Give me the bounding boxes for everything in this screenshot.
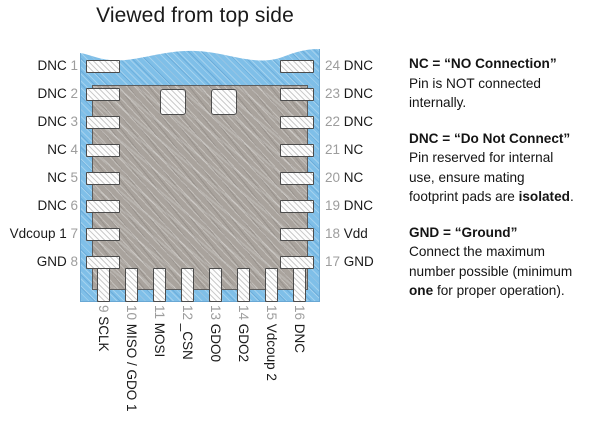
pin-name: MOSI xyxy=(152,323,167,358)
legend-emphasis: isolated xyxy=(519,189,570,204)
legend-block-gnd: GND = “Ground” Connect the maximum numbe… xyxy=(409,223,597,301)
pin-number: 10 xyxy=(124,305,139,320)
pin-label-1: DNC 1 xyxy=(0,59,78,73)
pin-pad-7[interactable] xyxy=(86,228,120,241)
pin-pad-18[interactable] xyxy=(280,228,314,241)
legend-line: Pin is NOT connected xyxy=(409,74,597,94)
package-die-body xyxy=(92,85,308,290)
pin-name: Vdcoup 1 xyxy=(10,226,67,241)
pin-number: 7 xyxy=(70,226,78,241)
pin-name: DNC xyxy=(37,198,66,213)
pin-pad-22[interactable] xyxy=(280,116,314,129)
legend-heading: DNC = “Do Not Connect” xyxy=(409,129,597,149)
pin-pad-5[interactable] xyxy=(86,172,120,185)
pin-name: GDO0 xyxy=(208,324,223,362)
pin-name: DNC xyxy=(344,198,373,213)
pin-label-14: 14 GDO2 xyxy=(236,305,250,362)
pin-label-5: NC 5 xyxy=(0,171,78,185)
pin-label-20: 20 NC xyxy=(325,171,363,185)
pin-label-15: 15 Vdcoup 2 xyxy=(264,305,278,381)
pin-pad-19[interactable] xyxy=(280,200,314,213)
legend-block-nc: NC = “NO Connection” Pin is NOT connecte… xyxy=(409,54,597,113)
pin-name: NC xyxy=(344,170,364,185)
legend-text-tail: . xyxy=(570,189,574,204)
pin-number: 21 xyxy=(325,142,340,157)
pin-label-21: 21 NC xyxy=(325,143,363,157)
pin-number: 11 xyxy=(152,305,167,319)
pin-label-24: 24 DNC xyxy=(325,59,373,73)
pin-pad-10[interactable] xyxy=(125,268,138,302)
pin-name: GDO2 xyxy=(236,324,251,362)
pin-number: 13 xyxy=(208,305,223,320)
legend-line: number possible (minimum xyxy=(409,262,597,282)
legend-block-dnc: DNC = “Do Not Connect” Pin reserved for … xyxy=(409,129,597,207)
pin-pad-11[interactable] xyxy=(153,268,166,302)
pin-name: MISO / GDO 1 xyxy=(124,324,139,412)
thermal-pad-1 xyxy=(160,89,186,115)
pin-pad-15[interactable] xyxy=(265,268,278,302)
pin-label-2: DNC 2 xyxy=(0,87,78,101)
pin-number: 15 xyxy=(264,305,279,320)
pin-label-6: DNC 6 xyxy=(0,199,78,213)
pin-diagram: DNC 1 DNC 2 DNC 3 NC 4 NC 5 DNC 6 Vdcoup… xyxy=(0,0,400,421)
pin-number: 2 xyxy=(70,86,78,101)
pin-number: 4 xyxy=(70,142,78,157)
legend-text: footprint pads are xyxy=(409,189,519,204)
pin-pad-12[interactable] xyxy=(181,268,194,302)
pin-number: 9 xyxy=(96,305,111,313)
pin-name: DNC xyxy=(344,114,373,129)
pin-label-10: 10 MISO / GDO 1 xyxy=(124,305,138,412)
pin-label-17: 17 GND xyxy=(325,255,374,269)
pin-label-16: 16 DNC xyxy=(292,305,306,353)
pin-pad-2[interactable] xyxy=(86,88,120,101)
pin-pad-6[interactable] xyxy=(86,200,120,213)
pin-label-9: 9 SCLK xyxy=(96,305,110,352)
legend-text-tail: for proper operation). xyxy=(433,283,564,298)
pin-pad-1[interactable] xyxy=(86,60,120,73)
pin-name: _CSN xyxy=(180,324,195,360)
pin-number: 23 xyxy=(325,86,340,101)
pin-number: 8 xyxy=(70,254,78,269)
pin-pad-4[interactable] xyxy=(86,144,120,157)
pin-name: DNC xyxy=(37,86,66,101)
thermal-pad-2 xyxy=(211,89,237,115)
pin-label-19: 19 DNC xyxy=(325,199,373,213)
pin-label-8: GND 8 xyxy=(0,255,78,269)
pin-number: 12 xyxy=(180,305,195,320)
legend-panel: NC = “NO Connection” Pin is NOT connecte… xyxy=(409,54,597,317)
pin-name: NC xyxy=(344,142,364,157)
pin-name: GND xyxy=(37,254,67,269)
pin-label-18: 18 Vdd xyxy=(325,227,368,241)
pin-label-12: 12 _CSN xyxy=(180,305,194,360)
pin-name: GND xyxy=(344,254,374,269)
pin-number: 1 xyxy=(70,58,78,73)
pin-name: DNC xyxy=(344,58,373,73)
legend-line: internally. xyxy=(409,93,597,113)
pin-label-7: Vdcoup 1 7 xyxy=(0,227,78,241)
pin-name: Vdcoup 2 xyxy=(264,324,279,381)
pin-name: DNC xyxy=(37,114,66,129)
pin-number: 17 xyxy=(325,254,340,269)
pin-name: SCLK xyxy=(96,316,111,351)
legend-heading: GND = “Ground” xyxy=(409,223,597,243)
pin-number: 22 xyxy=(325,114,340,129)
pin-label-13: 13 GDO0 xyxy=(208,305,222,362)
legend-line: use, ensure mating xyxy=(409,168,597,188)
pin-number: 14 xyxy=(236,305,251,320)
pin-name: DNC xyxy=(37,58,66,73)
pin-name: NC xyxy=(47,142,67,157)
pin-pad-16[interactable] xyxy=(293,268,306,302)
pin-number: 16 xyxy=(292,305,307,320)
pin-pad-9[interactable] xyxy=(97,268,110,302)
legend-line-mixed: footprint pads are isolated. xyxy=(409,187,597,207)
pin-name: NC xyxy=(47,170,67,185)
legend-emphasis: one xyxy=(409,283,433,298)
legend-line-mixed: one for proper operation). xyxy=(409,281,597,301)
pin-pad-14[interactable] xyxy=(237,268,250,302)
pin-number: 6 xyxy=(70,198,78,213)
pin-number: 20 xyxy=(325,170,340,185)
legend-line: Pin reserved for internal xyxy=(409,148,597,168)
pin-label-11: 11 MOSI xyxy=(152,305,166,357)
pin-label-23: 23 DNC xyxy=(325,87,373,101)
pin-label-3: DNC 3 xyxy=(0,115,78,129)
pin-name: Vdd xyxy=(344,226,368,241)
pin-pad-3[interactable] xyxy=(86,116,120,129)
pin-number: 5 xyxy=(70,170,78,185)
pin-pad-23[interactable] xyxy=(280,88,314,101)
pin-name: DNC xyxy=(344,86,373,101)
pin-pad-24[interactable] xyxy=(280,60,314,73)
pin-name: DNC xyxy=(292,324,307,353)
legend-heading: NC = “NO Connection” xyxy=(409,54,597,74)
pin-number: 3 xyxy=(70,114,78,129)
pin-pad-13[interactable] xyxy=(209,268,222,302)
pin-label-22: 22 DNC xyxy=(325,115,373,129)
legend-line: Connect the maximum xyxy=(409,242,597,262)
pin-pad-21[interactable] xyxy=(280,144,314,157)
pin-label-4: NC 4 xyxy=(0,143,78,157)
pin-number: 18 xyxy=(325,226,340,241)
pin-number: 19 xyxy=(325,198,340,213)
pin-number: 24 xyxy=(325,58,340,73)
pin-pad-20[interactable] xyxy=(280,172,314,185)
